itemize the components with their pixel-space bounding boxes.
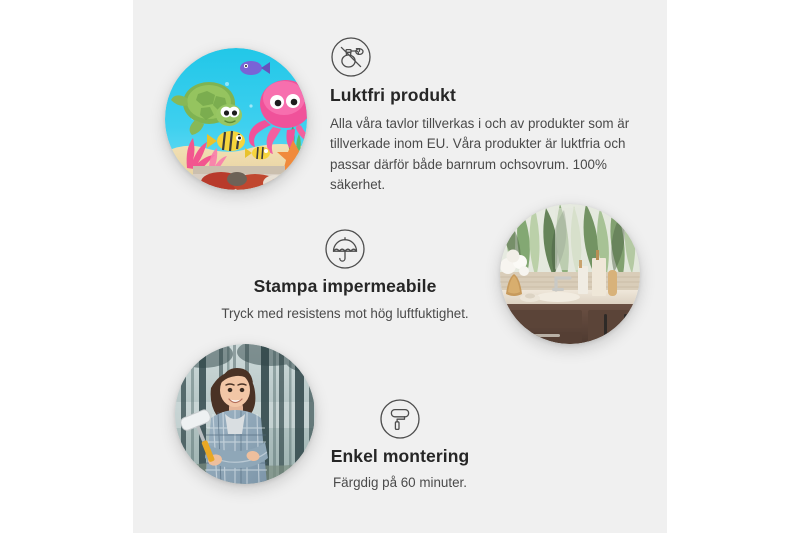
feature-odourless: Luktfri produkt Alla våra tavlor tillver… <box>330 36 630 195</box>
feature-waterproof: Stampa impermeabile Tryck med resistens … <box>200 228 490 324</box>
photo-underwater <box>165 48 307 190</box>
feature-waterproof-body: Tryck med resistens mot hög luftfuktighe… <box>200 304 490 324</box>
photo-underwater-image <box>165 48 307 190</box>
umbrella-icon <box>324 228 366 270</box>
feature-waterproof-title: Stampa impermeabile <box>200 276 490 298</box>
no-odour-spray-bottle-icon <box>330 36 372 78</box>
feature-odourless-title: Luktfri produkt <box>330 85 630 107</box>
feature-mounting: Enkel montering Färgdig på 60 minuter. <box>290 398 510 493</box>
photo-bathroom-image <box>500 204 640 344</box>
paint-roller-icon <box>379 398 421 440</box>
feature-mounting-title: Enkel montering <box>290 446 510 468</box>
feature-odourless-body: Alla våra tavlor tillverkas i och av pro… <box>330 114 630 196</box>
page-root: Luktfri produkt Alla våra tavlor tillver… <box>0 0 800 533</box>
feature-mounting-body: Färgdig på 60 minuter. <box>290 473 510 493</box>
photo-bathroom <box>500 204 640 344</box>
